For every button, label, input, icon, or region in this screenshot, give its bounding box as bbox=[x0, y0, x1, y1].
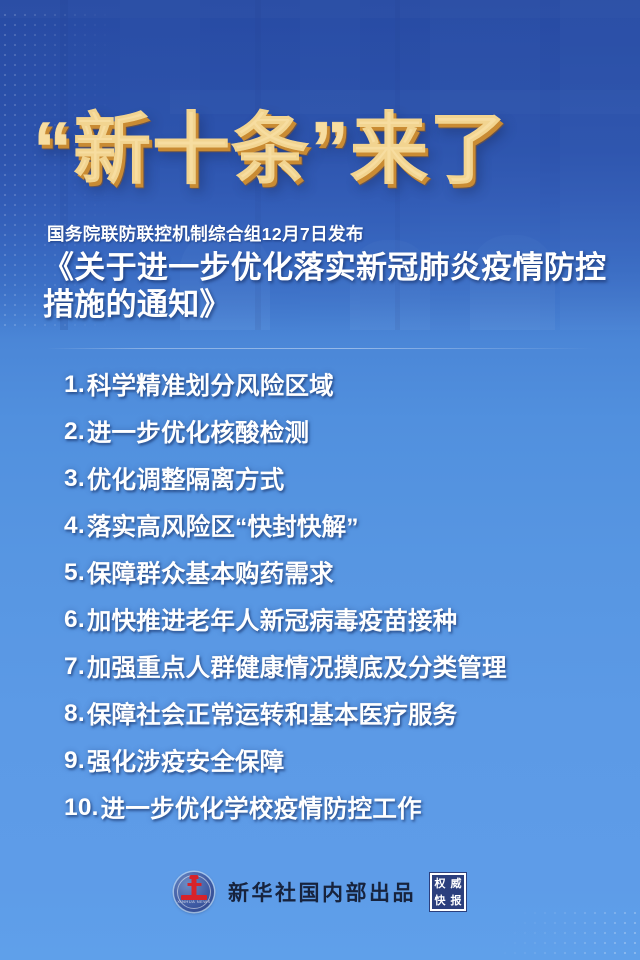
list-item: 10. 进一步优化学校疫情防控工作 bbox=[64, 784, 624, 831]
footer: XINHUA NEWS AGENCY 新华社国内部出品 权 威 快 报 bbox=[0, 862, 640, 922]
section-divider bbox=[46, 348, 596, 349]
stamp-char: 报 bbox=[451, 895, 462, 906]
list-item-label: 进一步优化学校疫情防控工作 bbox=[101, 790, 422, 825]
list-item-number: 2. bbox=[64, 418, 85, 446]
list-item-label: 保障社会正常运转和基本医疗服务 bbox=[87, 696, 458, 731]
list-item: 4. 落实高风险区“快封快解” bbox=[64, 502, 624, 549]
list-item-number: 5. bbox=[64, 559, 85, 587]
list-item-label: 科学精准划分风险区域 bbox=[87, 367, 334, 402]
list-item-number: 8. bbox=[64, 700, 85, 728]
poster-root: “新十条”来了 国务院联防联控机制综合组12月7日发布 《关于进一步优化落实新冠… bbox=[0, 0, 640, 960]
list-item-label: 进一步优化核酸检测 bbox=[87, 414, 309, 449]
stamp-char: 权 bbox=[435, 878, 446, 889]
authority-stamp-icon: 权 威 快 报 bbox=[430, 873, 466, 911]
list-item-number: 9. bbox=[64, 747, 85, 775]
list-item: 2. 进一步优化核酸检测 bbox=[64, 408, 624, 455]
list-item: 3. 优化调整隔离方式 bbox=[64, 455, 624, 502]
list-item-label: 加强重点人群健康情况摸底及分类管理 bbox=[87, 649, 507, 684]
page-headline: “新十条”来了 bbox=[33, 108, 508, 190]
document-title: 《关于进一步优化落实新冠肺炎疫情防控措施的通知》 bbox=[43, 249, 613, 323]
stamp-char: 快 bbox=[435, 895, 446, 906]
list-item-number: 1. bbox=[64, 371, 85, 399]
list-item-number: 4. bbox=[64, 512, 85, 540]
list-item-label: 强化涉疫安全保障 bbox=[87, 743, 285, 778]
stamp-char: 威 bbox=[451, 878, 462, 889]
list-item-label: 加快推进老年人新冠病毒疫苗接种 bbox=[87, 602, 458, 637]
list-item: 9. 强化涉疫安全保障 bbox=[64, 737, 624, 784]
xinhua-logo-arc-text: XINHUA NEWS AGENCY bbox=[176, 897, 212, 907]
list-item: 6. 加快推进老年人新冠病毒疫苗接种 bbox=[64, 596, 624, 643]
list-item-number: 6. bbox=[64, 606, 85, 634]
produced-by-label: 新华社国内部出品 bbox=[228, 877, 416, 907]
list-item: 8. 保障社会正常运转和基本医疗服务 bbox=[64, 690, 624, 737]
list-item-number: 3. bbox=[64, 465, 85, 493]
source-line: 国务院联防联控机制综合组12月7日发布 bbox=[47, 221, 364, 246]
list-item-label: 保障群众基本购药需求 bbox=[87, 555, 334, 590]
list-item: 7. 加强重点人群健康情况摸底及分类管理 bbox=[64, 643, 624, 690]
list-item-number: 10. bbox=[64, 794, 99, 822]
list-item-label: 落实高风险区“快封快解” bbox=[87, 508, 359, 543]
list-item: 5. 保障群众基本购药需求 bbox=[64, 549, 624, 596]
measures-list: 1. 科学精准划分风险区域 2. 进一步优化核酸检测 3. 优化调整隔离方式 4… bbox=[64, 361, 624, 831]
list-item-label: 优化调整隔离方式 bbox=[87, 461, 285, 496]
list-item-number: 7. bbox=[64, 653, 85, 681]
list-item: 1. 科学精准划分风险区域 bbox=[64, 361, 624, 408]
xinhua-logo-icon: XINHUA NEWS AGENCY bbox=[174, 872, 214, 912]
